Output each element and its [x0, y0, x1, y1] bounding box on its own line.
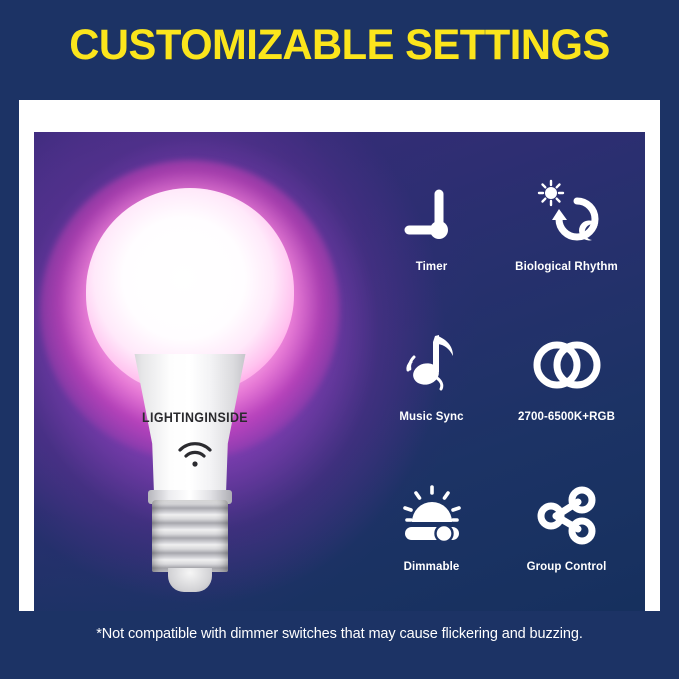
feature-music-sync[interactable]: Music Sync	[364, 300, 499, 450]
feature-color-temperature[interactable]: 2700-6500K+RGB	[499, 300, 634, 450]
brand-label: LIGHTINGINSIDE	[86, 410, 305, 425]
feature-label: Timer	[416, 261, 448, 273]
feature-timer[interactable]: Timer	[364, 150, 499, 300]
wifi-icon	[176, 440, 214, 468]
feature-biological-rhythm[interactable]: Biological Rhythm	[499, 150, 634, 300]
clock-hands-icon	[395, 178, 469, 252]
smart-bulb-image: LIGHTINGINSIDE	[76, 182, 314, 582]
half-sun-slider-icon	[395, 478, 469, 552]
feature-label: Music Sync	[399, 411, 463, 423]
feature-grid: Timer	[364, 150, 634, 600]
two-overlapping-rings-icon	[530, 328, 604, 402]
music-note-icon	[395, 328, 469, 402]
feature-label: Group Control	[527, 561, 607, 573]
sun-moon-cycle-icon	[530, 178, 604, 252]
page-title: CUSTOMIZABLE SETTINGS	[10, 18, 669, 72]
feature-dimmable[interactable]: Dimmable	[364, 450, 499, 600]
footnote-text: *Not compatible with dimmer switches tha…	[0, 626, 679, 642]
feature-group-control[interactable]: Group Control	[499, 450, 634, 600]
feature-label: Dimmable	[404, 561, 460, 573]
bulb-screw-base	[152, 500, 228, 572]
feature-panel: LIGHTINGINSIDE	[34, 132, 645, 611]
feature-label: Biological Rhythm	[515, 261, 618, 273]
product-feature-poster: CUSTOMIZABLE SETTINGS LIGHTINGINSIDE	[0, 0, 679, 679]
three-connected-nodes-icon	[530, 478, 604, 552]
feature-label: 2700-6500K+RGB	[518, 411, 615, 423]
